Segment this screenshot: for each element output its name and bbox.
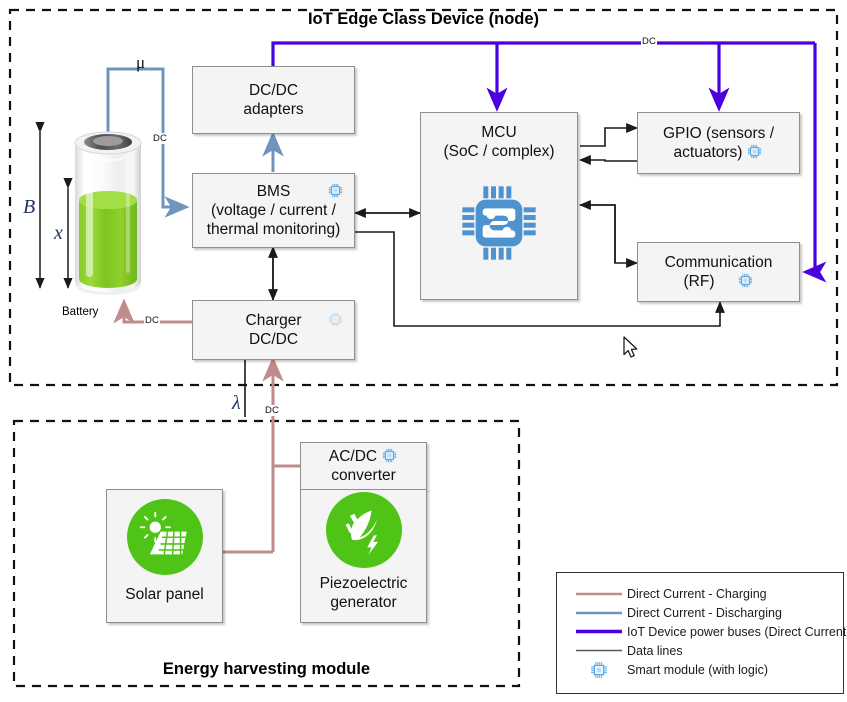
diagram-canvas: IoT Edge Class Device (node) Energy harv…	[0, 0, 847, 702]
mcu-line2: (SoC / complex)	[443, 142, 554, 161]
smart-module-chip-icon-communication	[737, 272, 754, 289]
harvest-region-title: Energy harvesting module	[14, 660, 519, 679]
legend-item-smart-module: Smart module (with logic)	[571, 660, 843, 679]
legend-panel: Direct Current - Charging Direct Current…	[556, 572, 844, 694]
legend-label-data-lines: Data lines	[627, 644, 683, 658]
bms-line1: BMS	[257, 182, 291, 201]
acdc-line1-text: AC/DC	[329, 448, 377, 465]
gpio-line2: actuators)	[674, 143, 764, 162]
legend-swatch-smart-module	[571, 660, 627, 680]
dc-label-discharge: DC	[152, 133, 168, 144]
dc-label-harvest: DC	[264, 405, 280, 416]
legend-swatch-data-lines	[571, 648, 627, 653]
piezoelectric-generator-icon	[326, 492, 402, 568]
legend-label-discharging: Direct Current - Discharging	[627, 606, 782, 620]
legend-label-charging: Direct Current - Charging	[627, 587, 767, 601]
lambda-label: λ	[232, 392, 241, 415]
dcdc-adapters-line1: DC/DC	[249, 81, 298, 100]
charger-line2: DC/DC	[249, 330, 298, 349]
dc-label-charge-battery: DC	[144, 315, 160, 326]
mcu-line1: MCU	[481, 123, 516, 142]
legend-label-power-bus: IoT Device power buses (Direct Current)	[627, 625, 847, 639]
legend-label-smart-module: Smart module (with logic)	[627, 663, 768, 677]
legend-swatch-charging	[571, 591, 627, 597]
piezo-line1: Piezoelectric	[320, 574, 408, 593]
mu-label: μ	[136, 53, 145, 73]
gpio-line1: GPIO (sensors /	[663, 124, 774, 143]
gpio-line2-text: actuators)	[674, 144, 743, 161]
box-acdc-converter[interactable]: AC/DC converter	[300, 442, 427, 490]
solar-panel-icon	[127, 499, 203, 575]
battery-caption: Battery	[62, 306, 98, 318]
box-communication[interactable]: Communication (RF)	[637, 242, 800, 302]
charger-line1: Charger	[246, 311, 302, 330]
acdc-line2: converter	[331, 466, 396, 485]
dc-label-bus: DC	[641, 36, 657, 47]
box-dcdc-adapters[interactable]: DC/DC adapters	[192, 66, 355, 134]
legend-item-discharging: Direct Current - Discharging	[571, 603, 843, 622]
mcu-chip-icon	[459, 183, 539, 263]
communication-line1: Communication	[665, 253, 773, 272]
smart-module-chip-icon-acdc	[381, 447, 398, 464]
solar-panel-label: Solar panel	[125, 585, 203, 604]
acdc-line1: AC/DC	[329, 447, 398, 466]
battery-illustration	[75, 132, 141, 295]
smart-module-chip-icon-legend	[589, 660, 609, 680]
battery-capacity-symbol: B	[23, 196, 35, 219]
box-gpio[interactable]: GPIO (sensors / actuators)	[637, 112, 800, 174]
mouse-cursor	[624, 337, 637, 357]
legend-swatch-discharging	[571, 610, 627, 616]
communication-line2: (RF)	[684, 272, 754, 291]
legend-item-data-lines: Data lines	[571, 641, 843, 660]
smart-module-chip-icon-gpio	[746, 143, 763, 160]
communication-line2-text: (RF)	[684, 273, 715, 290]
legend-swatch-power-bus	[571, 628, 627, 635]
node-region-title: IoT Edge Class Device (node)	[0, 10, 847, 29]
dcdc-adapters-line2: adapters	[243, 100, 303, 119]
smart-module-chip-icon-charger	[327, 311, 344, 328]
legend-item-power-bus: IoT Device power buses (Direct Current)	[571, 622, 843, 641]
box-piezoelectric-generator[interactable]: Piezoelectric generator	[300, 489, 427, 623]
legend-item-charging: Direct Current - Charging	[571, 584, 843, 603]
box-solar-panel[interactable]: Solar panel	[106, 489, 223, 623]
piezo-line2: generator	[330, 593, 396, 612]
battery-dimension-arrows	[40, 132, 68, 288]
box-charger[interactable]: Charger DC/DC	[192, 300, 355, 360]
bms-line2: (voltage / current /	[211, 201, 336, 220]
smart-module-chip-icon-bms	[327, 182, 344, 199]
battery-level-symbol: x	[54, 222, 63, 245]
bms-line3: thermal monitoring)	[207, 220, 341, 239]
